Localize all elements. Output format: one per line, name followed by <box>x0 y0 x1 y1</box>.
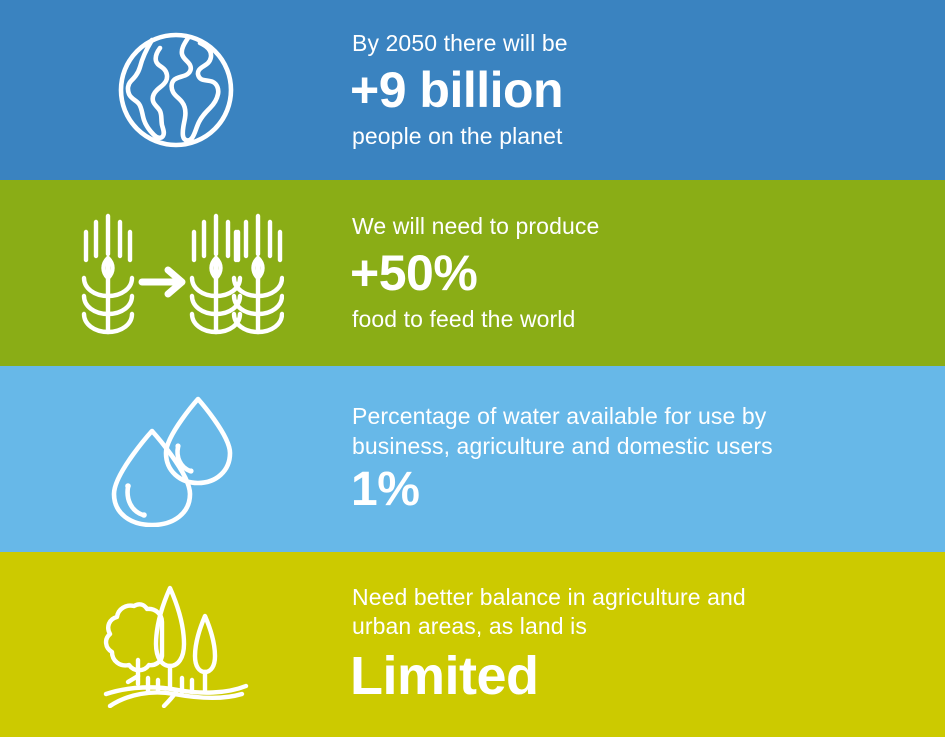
panel-population: By 2050 there will be +9 billion people … <box>0 0 945 180</box>
land-highlight: Limited <box>350 646 915 706</box>
population-highlight: +9 billion <box>350 62 915 118</box>
panel-water-availability: Percentage of water available for use by… <box>0 366 945 552</box>
food-production-highlight: +50% <box>350 245 915 301</box>
water-highlight: 1% <box>351 463 915 517</box>
panel-food-production-text-column: We will need to produce +50% food to fee… <box>352 212 945 334</box>
water-droplets-icon <box>106 391 246 527</box>
wheat-growth-icon <box>68 210 284 336</box>
panel-water-text-column: Percentage of water available for use by… <box>352 402 945 517</box>
panel-land-icon-column <box>0 552 352 737</box>
globe-icon <box>112 26 240 154</box>
water-lead-line-2: business, agriculture and domestic users <box>352 432 915 462</box>
population-trail-line: people on the planet <box>352 122 915 151</box>
food-production-lead-line: We will need to produce <box>352 212 915 241</box>
panel-food-production: We will need to produce +50% food to fee… <box>0 180 945 366</box>
water-lead-line: Percentage of water available for use by <box>352 402 915 432</box>
panel-food-production-icon-column <box>0 180 352 366</box>
sustainability-infographic: By 2050 there will be +9 billion people … <box>0 0 945 737</box>
panel-population-text-column: By 2050 there will be +9 billion people … <box>352 29 945 151</box>
food-production-trail-line: food to feed the world <box>352 305 915 334</box>
panel-land-text-column: Need better balance in agriculture and u… <box>352 583 945 706</box>
land-lead-line: Need better balance in agriculture and <box>352 583 915 612</box>
trees-landscape-icon <box>100 582 252 708</box>
population-lead-line: By 2050 there will be <box>352 29 915 58</box>
panel-water-icon-column <box>0 366 352 552</box>
panel-population-icon-column <box>0 0 352 180</box>
land-lead-line-2: urban areas, as land is <box>352 612 915 641</box>
panel-land-balance: Need better balance in agriculture and u… <box>0 552 945 737</box>
